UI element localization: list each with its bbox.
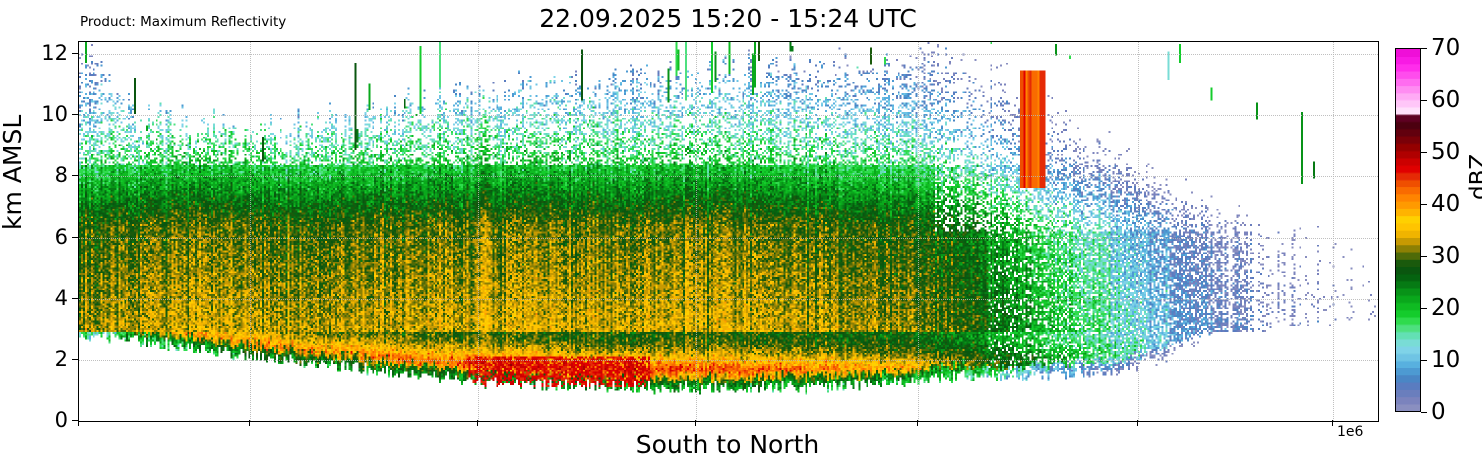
colorbar-tick-label: 70 — [1431, 35, 1460, 61]
y-tick-mark — [72, 359, 78, 360]
x-tick-mark — [78, 420, 79, 426]
x-axis-label: South to North — [78, 430, 1377, 459]
y-tick-mark — [72, 298, 78, 299]
product-annotation: Product: Maximum Reflectivity — [80, 14, 286, 30]
colorbar-tick-label: 50 — [1431, 139, 1460, 165]
colorbar-tick-mark — [1421, 412, 1427, 413]
colorbar-tick-label: 0 — [1431, 399, 1446, 425]
y-tick-label: 0 — [55, 408, 68, 432]
colorbar-tick-mark — [1421, 100, 1427, 101]
x-tick-mark — [1137, 420, 1138, 426]
colorbar-tick-label: 30 — [1431, 243, 1460, 269]
y-tick-mark — [72, 114, 78, 115]
colorbar-tick-mark — [1421, 308, 1427, 309]
y-tick-label: 2 — [55, 347, 68, 371]
x-tick-mark — [1332, 420, 1333, 426]
colorbar-tick-label: 60 — [1431, 87, 1460, 113]
y-tick-label: 8 — [55, 163, 68, 187]
colorbar-label: dBZ — [1466, 154, 1482, 200]
y-tick-label: 10 — [41, 102, 68, 126]
colorbar-tick-mark — [1421, 48, 1427, 49]
y-tick-label: 12 — [41, 41, 68, 65]
colorbar-gradient — [1395, 48, 1421, 412]
x-tick-mark — [477, 420, 478, 426]
y-tick-mark — [72, 175, 78, 176]
colorbar-tick-label: 20 — [1431, 295, 1460, 321]
y-tick-label: 4 — [55, 286, 68, 310]
reflectivity-heatmap — [79, 42, 1378, 421]
y-tick-label: 6 — [55, 225, 68, 249]
colorbar-tick-mark — [1421, 360, 1427, 361]
colorbar-tick-mark — [1421, 204, 1427, 205]
colorbar-tick-mark — [1421, 152, 1427, 153]
x-tick-mark — [249, 420, 250, 426]
colorbar[interactable]: 010203040506070 — [1395, 48, 1421, 412]
x-tick-mark — [917, 420, 918, 426]
colorbar-tick-mark — [1421, 256, 1427, 257]
radar-cross-section-figure: 22.09.2025 15:20 - 15:24 UTC Product: Ma… — [0, 0, 1482, 470]
plot-area[interactable] — [78, 41, 1379, 422]
y-tick-mark — [72, 53, 78, 54]
colorbar-tick-label: 10 — [1431, 347, 1460, 373]
colorbar-tick-label: 40 — [1431, 191, 1460, 217]
y-axis-label: km AMSL — [0, 115, 27, 230]
x-axis-offset-text: 1e6 — [1337, 424, 1363, 440]
x-tick-mark — [695, 420, 696, 426]
y-tick-mark — [72, 237, 78, 238]
